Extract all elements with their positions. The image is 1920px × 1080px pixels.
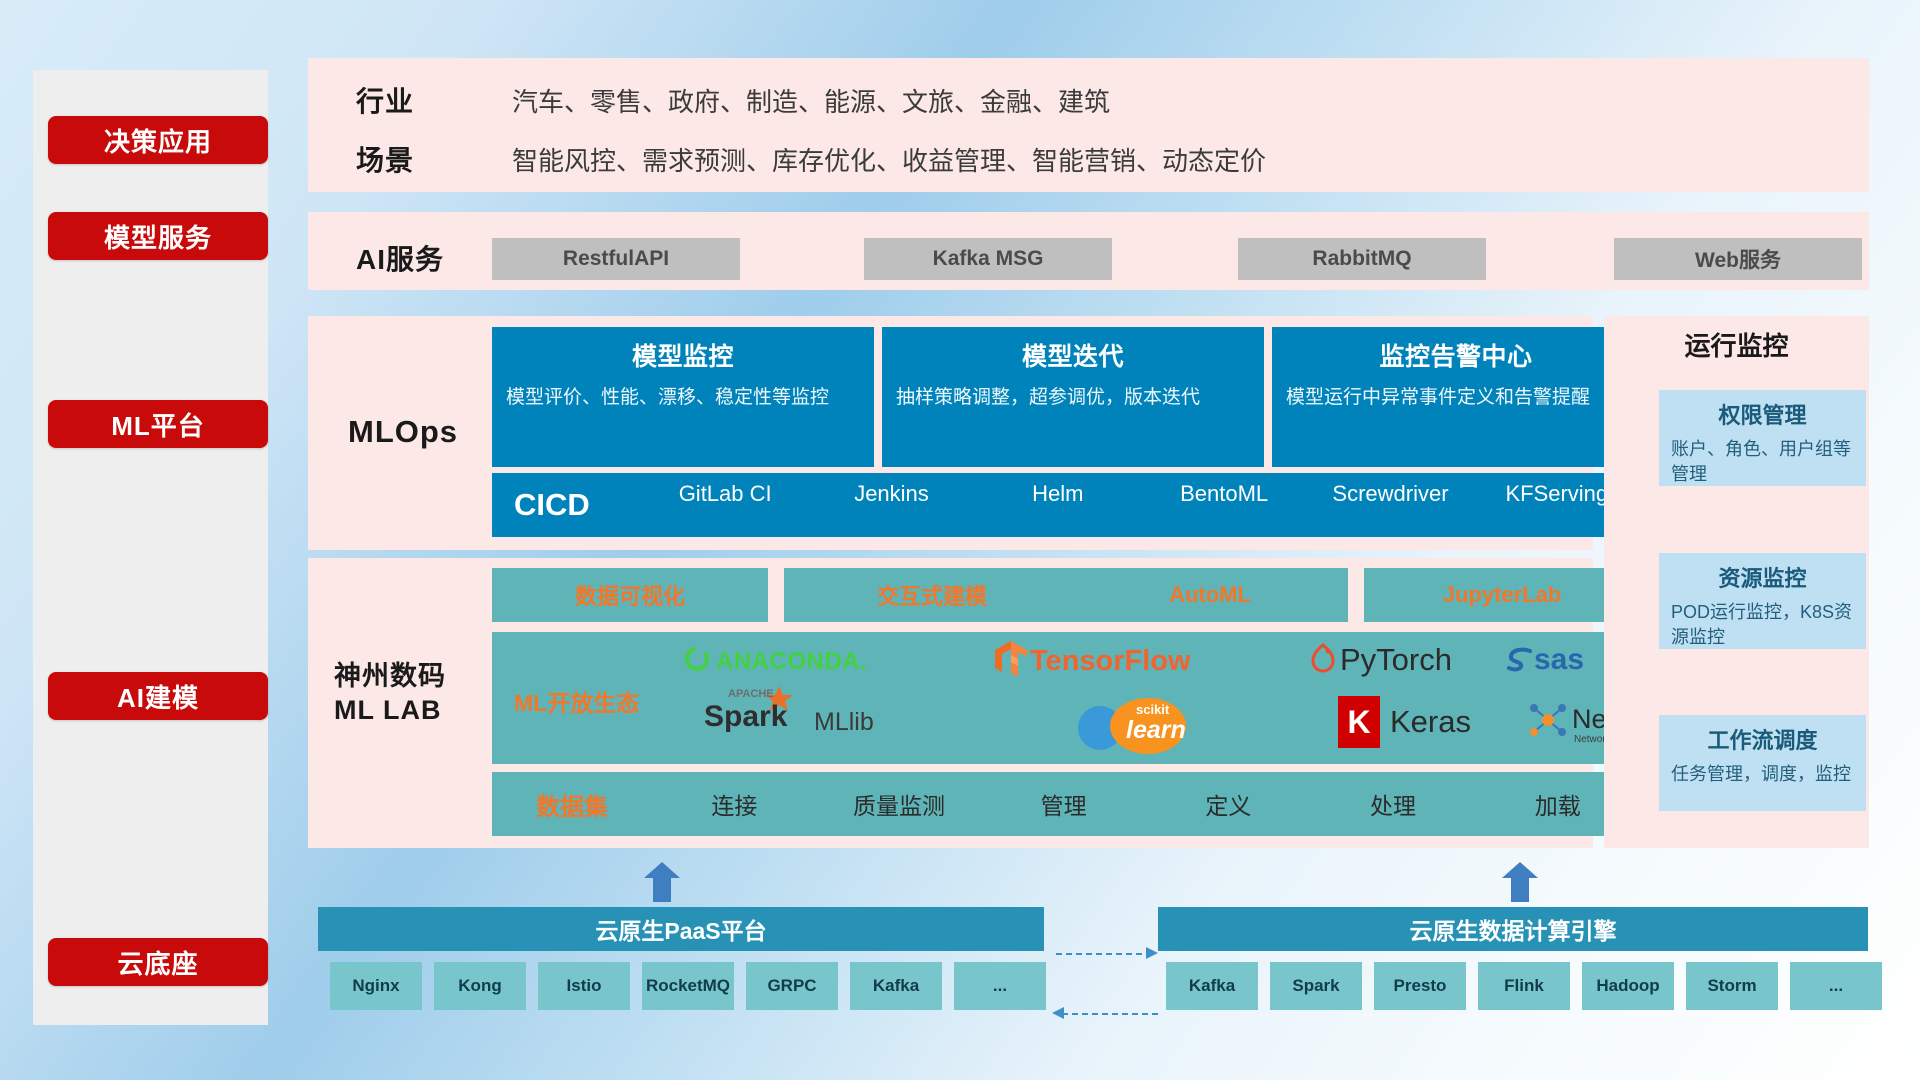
keras-k-badge-icon: K: [1338, 696, 1380, 748]
tech-chip-label: ...: [1829, 977, 1843, 994]
scikit-learn-text: learn: [1126, 716, 1186, 745]
monitor-card-workflow-scheduling[interactable]: 工作流调度 任务管理，调度，监控: [1659, 715, 1866, 811]
sidebar-item-model-service[interactable]: 模型服务: [48, 212, 268, 260]
service-chip-label: RabbitMQ: [1312, 247, 1411, 271]
cicd-tool-helm[interactable]: Helm: [975, 482, 1141, 528]
tech-chip-kafka-paas[interactable]: Kafka: [850, 962, 942, 1010]
tech-chip-rocketmq[interactable]: RocketMQ: [642, 962, 734, 1010]
tech-chip-hadoop[interactable]: Hadoop: [1582, 962, 1674, 1010]
tool-chip-label: JupyterLab: [1443, 582, 1562, 608]
pytorch-flame-icon: [1310, 643, 1336, 673]
keras-logo-text: Keras: [1390, 704, 1471, 740]
tech-chip-label: Nginx: [352, 977, 399, 994]
card-desc: 账户、角色、用户组等管理: [1671, 437, 1854, 487]
card-desc: 模型评价、性能、漂移、稳定性等监控: [506, 384, 860, 412]
tech-chip-label: Kafka: [1189, 977, 1235, 994]
mlops-row-label: MLOps: [348, 414, 458, 450]
dash-arrow-right-icon: [1146, 945, 1160, 961]
sidebar-item-label: 云底座: [117, 944, 198, 981]
service-chip-rabbitmq[interactable]: RabbitMQ: [1238, 238, 1486, 280]
cloud-native-paas-label: 云原生PaaS平台: [595, 912, 766, 946]
tech-chip-label: Istio: [567, 977, 602, 994]
sidebar-item-label: 模型服务: [104, 218, 212, 255]
dash-connector-right: [1056, 953, 1152, 955]
mlops-card-model-monitoring[interactable]: 模型监控 模型评价、性能、漂移、稳定性等监控: [492, 327, 874, 467]
tool-chip-label: AutoML: [1169, 582, 1251, 608]
tech-chip-label: Storm: [1707, 977, 1756, 994]
mlops-card-alert-center[interactable]: 监控告警中心 模型运行中异常事件定义和告警提醒: [1272, 327, 1640, 467]
card-desc: 模型运行中异常事件定义和告警提醒: [1286, 384, 1626, 412]
tech-chip-label: Hadoop: [1596, 977, 1659, 994]
sidebar-item-label: AI建模: [117, 678, 199, 715]
tech-chip-flink[interactable]: Flink: [1478, 962, 1570, 1010]
tool-chip-data-visualization[interactable]: 数据可视化: [492, 568, 768, 622]
tech-chip-istio[interactable]: Istio: [538, 962, 630, 1010]
sidebar-item-decision-apps[interactable]: 决策应用: [48, 116, 268, 164]
cloud-native-compute-bar[interactable]: 云原生数据计算引擎: [1158, 907, 1868, 951]
tech-chip-kong[interactable]: Kong: [434, 962, 526, 1010]
anaconda-logo-text: ANACONDA.: [716, 648, 867, 676]
pytorch-logo: [1310, 643, 1336, 678]
tech-chip-presto[interactable]: Presto: [1374, 962, 1466, 1010]
sidebar-item-ai-modeling[interactable]: AI建模: [48, 672, 268, 720]
card-title: 资源监控: [1671, 561, 1854, 593]
cicd-tool-gitlab-ci[interactable]: GitLab CI: [642, 482, 808, 528]
sidebar-item-ml-platform[interactable]: ML平台: [48, 400, 268, 448]
tech-chip-label: RocketMQ: [646, 977, 730, 994]
dataset-step-quality-monitor[interactable]: 质量监测: [817, 787, 982, 821]
scenario-list: 智能风控、需求预测、库存优化、收益管理、智能营销、动态定价: [512, 141, 1266, 178]
tensorflow-logo: [994, 640, 1028, 683]
card-desc: 任务管理，调度，监控: [1671, 762, 1854, 787]
dataset-step-process[interactable]: 处理: [1311, 787, 1476, 821]
keras-k-text: K: [1347, 704, 1370, 741]
monitor-card-resource-monitoring[interactable]: 资源监控 POD运行监控，K8S资源监控: [1659, 553, 1866, 649]
scikit-top-text: scikit: [1136, 702, 1169, 717]
cloud-native-paas-bar[interactable]: 云原生PaaS平台: [318, 907, 1044, 951]
dash-connector-left: [1062, 1013, 1158, 1015]
tech-chip-storm[interactable]: Storm: [1686, 962, 1778, 1010]
card-desc: 抽样策略调整，超参调优，版本迭代: [896, 384, 1250, 412]
ml-lab-label-line1: 神州数码: [334, 660, 446, 694]
tool-chip-label: 交互式建模: [877, 579, 987, 611]
cicd-tool-screwdriver[interactable]: Screwdriver: [1307, 482, 1473, 528]
tech-chip-spark[interactable]: Spark: [1270, 962, 1362, 1010]
tool-chip-label: 数据可视化: [575, 579, 685, 611]
mllib-logo-text: MLlib: [814, 708, 874, 737]
pytorch-logo-text: PyTorch: [1340, 642, 1452, 678]
service-chip-restfulapi[interactable]: RestfulAPI: [492, 238, 740, 280]
tensorflow-logo-text: TensorFlow: [1030, 645, 1191, 678]
scenario-row-label: 场景: [356, 139, 414, 179]
sidebar-item-cloud-foundation[interactable]: 云底座: [48, 938, 268, 986]
sidebar-item-label: ML平台: [111, 406, 205, 443]
runtime-monitor-title: 运行监控: [1604, 326, 1869, 363]
anaconda-logo: [682, 644, 712, 679]
cicd-toolchain-bar: CICD GitLab CI Jenkins Helm BentoML Scre…: [492, 473, 1640, 537]
ml-open-ecosystem-box: ML开放生态 ANACONDA. TensorFlow PyTorch: [492, 632, 1640, 764]
tech-chip-label: Spark: [1292, 977, 1339, 994]
tool-chip-interactive-modeling[interactable]: 交互式建模: [784, 568, 1080, 622]
spark-logo-text: Spark: [704, 700, 787, 734]
industry-row-label: 行业: [356, 80, 414, 120]
compute-up-arrow-icon: [1498, 862, 1542, 902]
dataset-label: 数据集: [492, 787, 652, 822]
spark-apache-text: APACHE: [728, 688, 774, 700]
industry-list: 汽车、零售、政府、制造、能源、文旅、金融、建筑: [512, 82, 1110, 119]
diagram-canvas: 决策应用 模型服务 ML平台 AI建模 云底座 行业 汽车、零售、政府、制造、能…: [0, 0, 1920, 1080]
tech-chip-nginx[interactable]: Nginx: [330, 962, 422, 1010]
tech-chip-label: Flink: [1504, 977, 1544, 994]
tech-chip-kafka-compute[interactable]: Kafka: [1166, 962, 1258, 1010]
monitor-card-permission-management[interactable]: 权限管理 账户、角色、用户组等管理: [1659, 390, 1866, 486]
dataset-step-define[interactable]: 定义: [1146, 787, 1311, 821]
tech-chip-label: Presto: [1394, 977, 1447, 994]
tool-chip-jupyterlab[interactable]: JupyterLab: [1364, 568, 1640, 622]
card-title: 工作流调度: [1671, 723, 1854, 755]
ai-service-row-label: AI服务: [356, 238, 444, 278]
tool-chip-automl[interactable]: AutoML: [1072, 568, 1348, 622]
paas-up-arrow-icon: [640, 862, 684, 902]
card-title: 监控告警中心: [1286, 337, 1626, 373]
dash-arrow-left-icon: [1050, 1005, 1064, 1021]
service-chip-web-service[interactable]: Web服务: [1614, 238, 1862, 280]
service-chip-kafka-msg[interactable]: Kafka MSG: [864, 238, 1112, 280]
cicd-label: CICD: [492, 487, 642, 523]
networkx-graph-icon: [1528, 700, 1568, 740]
ml-lab-label-line2: ML LAB: [334, 694, 446, 728]
tech-chip-more-compute[interactable]: ...: [1790, 962, 1882, 1010]
tech-chip-label: GRPC: [767, 977, 816, 994]
dataset-step-connect[interactable]: 连接: [652, 787, 817, 821]
mlops-card-model-iteration[interactable]: 模型迭代 抽样策略调整，超参调优，版本迭代: [882, 327, 1264, 467]
sas-swirl-icon: [1506, 646, 1536, 674]
tech-chip-label: ...: [993, 977, 1007, 994]
dataset-pipeline-bar: 数据集 连接 质量监测 管理 定义 处理 加载: [492, 772, 1640, 836]
sas-logo-text: sas: [1534, 643, 1584, 677]
cloud-native-compute-label: 云原生数据计算引擎: [1410, 912, 1617, 946]
card-title: 权限管理: [1671, 398, 1854, 430]
sidebar-item-label: 决策应用: [104, 122, 212, 159]
card-desc: POD运行监控，K8S资源监控: [1671, 600, 1854, 650]
cicd-tool-jenkins[interactable]: Jenkins: [808, 482, 974, 528]
tech-chip-label: Kafka: [873, 977, 919, 994]
service-chip-label: Kafka MSG: [933, 247, 1044, 271]
sas-logo: [1506, 646, 1536, 679]
tech-chip-grpc[interactable]: GRPC: [746, 962, 838, 1010]
tech-chip-more-paas[interactable]: ...: [954, 962, 1046, 1010]
card-title: 模型迭代: [896, 337, 1250, 373]
tech-chip-label: Kong: [458, 977, 501, 994]
dataset-step-manage[interactable]: 管理: [981, 787, 1146, 821]
cicd-tool-bentoml[interactable]: BentoML: [1141, 482, 1307, 528]
ml-lab-row-label: 神州数码 ML LAB: [334, 660, 446, 728]
service-chip-label: Web服务: [1695, 244, 1781, 274]
anaconda-ring-icon: [682, 644, 712, 674]
service-chip-label: RestfulAPI: [563, 247, 669, 271]
scikit-learn-logo: scikit learn: [1078, 698, 1258, 754]
card-title: 模型监控: [506, 337, 860, 373]
ml-open-ecosystem-label: ML开放生态: [514, 684, 639, 718]
tensorflow-mark-icon: [994, 640, 1028, 678]
